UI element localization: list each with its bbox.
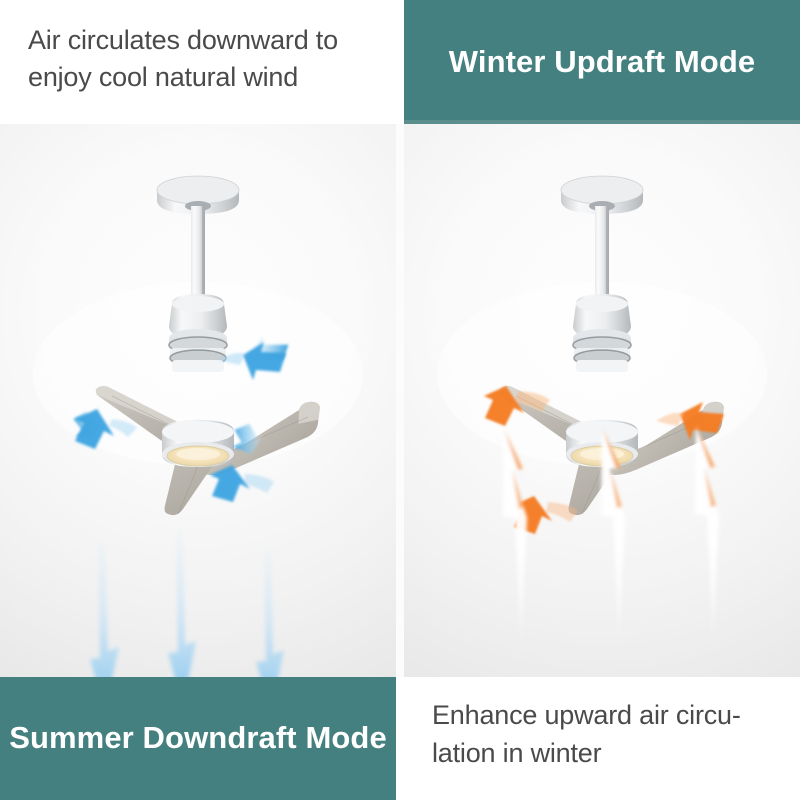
- winter-mode-banner: Winter Updraft Mode: [404, 0, 800, 124]
- fan-light-kit: [162, 420, 234, 467]
- summer-caption-line1: Air circulates downward to: [28, 22, 338, 59]
- fan-downrod: [595, 206, 609, 302]
- summer-caption-line2: enjoy cool natural wind: [28, 59, 338, 96]
- winter-caption-line2: lation in winter: [432, 735, 741, 772]
- fan-motor-housing: [573, 294, 631, 372]
- product-feature-graphic: Air circulates downward to enjoy cool na…: [0, 0, 800, 800]
- winter-caption: Enhance upward air circu- lation in wint…: [404, 677, 800, 800]
- summer-downdraft-illustration: [0, 124, 396, 677]
- downdraft-streaks: [90, 531, 284, 677]
- winter-updraft-illustration: [404, 124, 800, 677]
- winter-banner-line1: Winter Updraft: [449, 44, 665, 79]
- summer-mode-banner: Summer Downdraft Mode: [0, 677, 396, 800]
- summer-fan-drawing: [0, 124, 396, 677]
- updraft-streak-1: [503, 429, 527, 642]
- downdraft-streak-2: [168, 531, 196, 677]
- winter-banner-line2: Mode: [674, 44, 755, 79]
- updraft-streaks: [503, 427, 719, 642]
- summer-caption: Air circulates downward to enjoy cool na…: [0, 0, 400, 124]
- winter-caption-line1: Enhance upward air circu-: [432, 697, 741, 734]
- updraft-streak-3: [695, 427, 719, 640]
- fan-downrod: [191, 206, 205, 302]
- downdraft-streak-1: [90, 543, 119, 677]
- fan-motor-housing: [169, 294, 227, 372]
- downdraft-streak-3: [256, 548, 284, 677]
- summer-banner-line2: Mode: [305, 720, 386, 755]
- photo-divider: [396, 124, 404, 677]
- summer-banner-line1: Summer Downdraft: [9, 720, 297, 755]
- winter-fan-drawing: [404, 124, 800, 677]
